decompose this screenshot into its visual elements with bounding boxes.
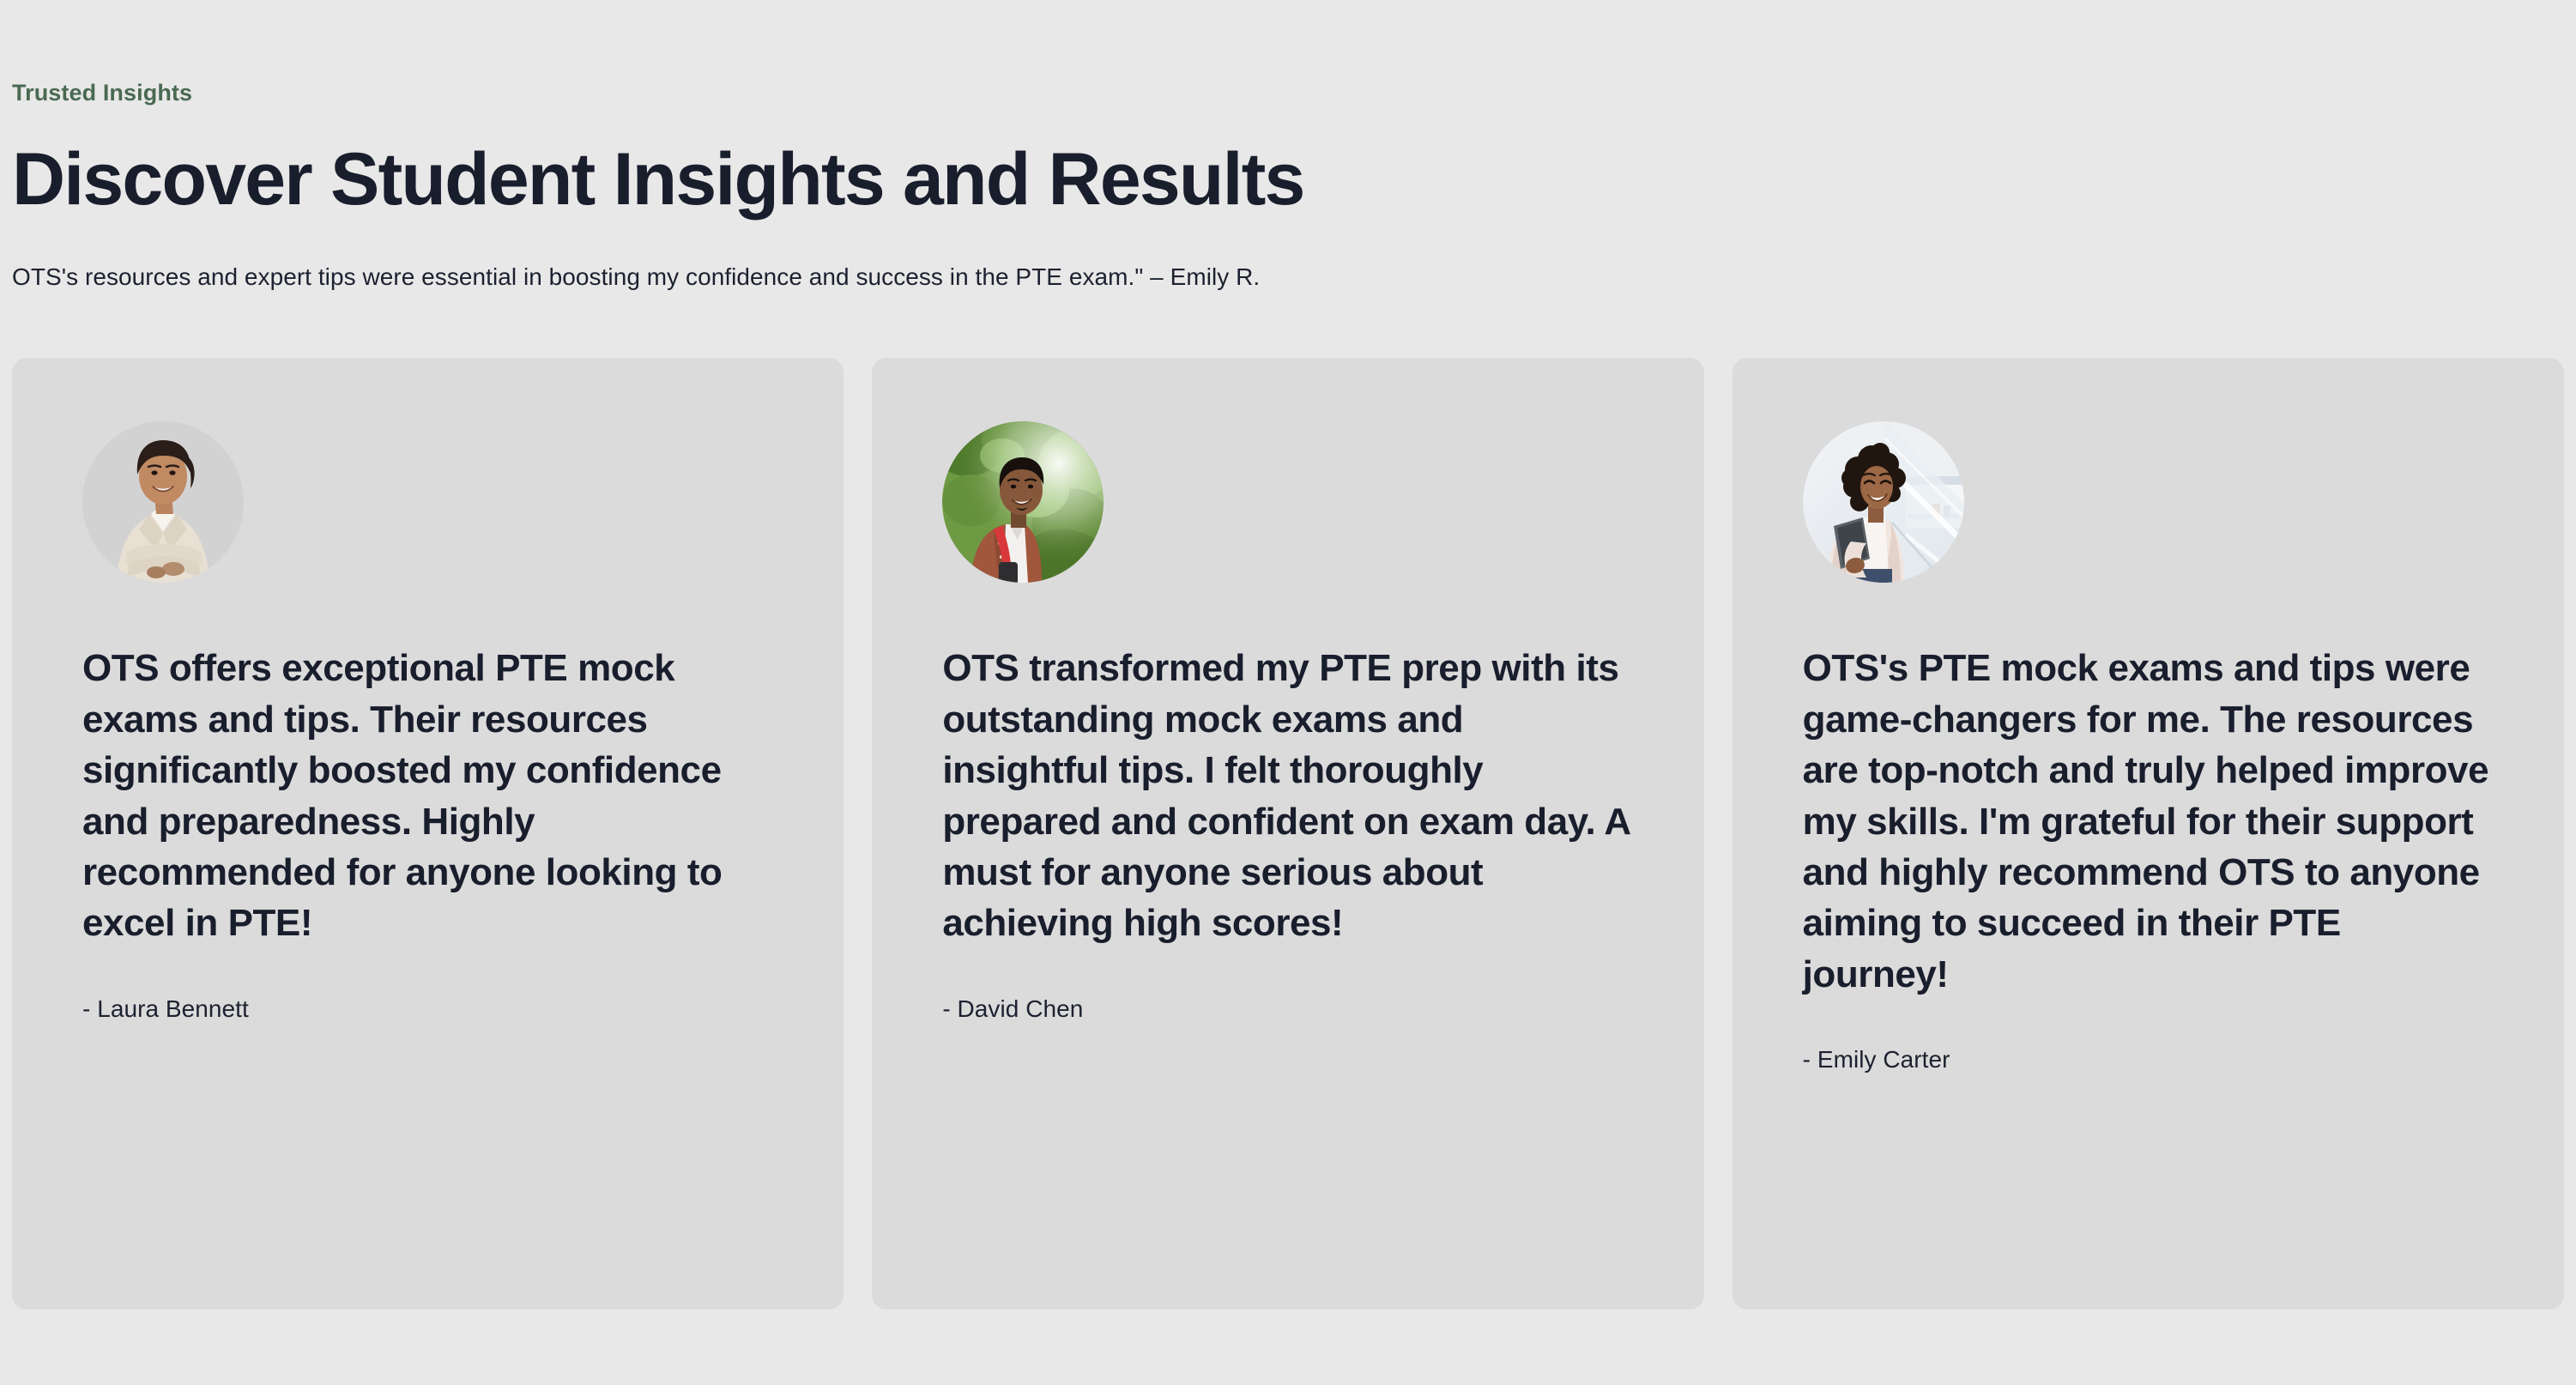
page-subtitle: OTS's resources and expert tips were ess… — [12, 261, 2564, 293]
avatar-laura-bennett — [82, 421, 244, 583]
testimonial-author: - David Chen — [942, 994, 1633, 1025]
testimonial-quote: OTS transformed my PTE prep with its out… — [942, 643, 1633, 948]
page-header: Trusted Insights Discover Student Insigh… — [12, 0, 2564, 293]
section-eyebrow: Trusted Insights — [12, 79, 2564, 106]
avatar-emily-carter — [1803, 421, 1964, 583]
testimonial-quote: OTS offers exceptional PTE mock exams an… — [82, 643, 773, 948]
page-title: Discover Student Insights and Results — [12, 141, 2564, 219]
testimonial-quote: OTS's PTE mock exams and tips were game-… — [1803, 643, 2494, 1000]
avatar-david-chen — [942, 421, 1104, 583]
testimonial-author: - Emily Carter — [1803, 1044, 2494, 1075]
testimonial-card[interactable]: OTS's PTE mock exams and tips were game-… — [1732, 358, 2564, 1309]
testimonial-author: - Laura Bennett — [82, 994, 773, 1025]
testimonials-page: Trusted Insights Discover Student Insigh… — [0, 0, 2576, 1385]
testimonial-card-list: OTS offers exceptional PTE mock exams an… — [12, 358, 2564, 1309]
testimonial-card[interactable]: OTS offers exceptional PTE mock exams an… — [12, 358, 844, 1309]
testimonial-card[interactable]: OTS transformed my PTE prep with its out… — [872, 358, 1703, 1309]
